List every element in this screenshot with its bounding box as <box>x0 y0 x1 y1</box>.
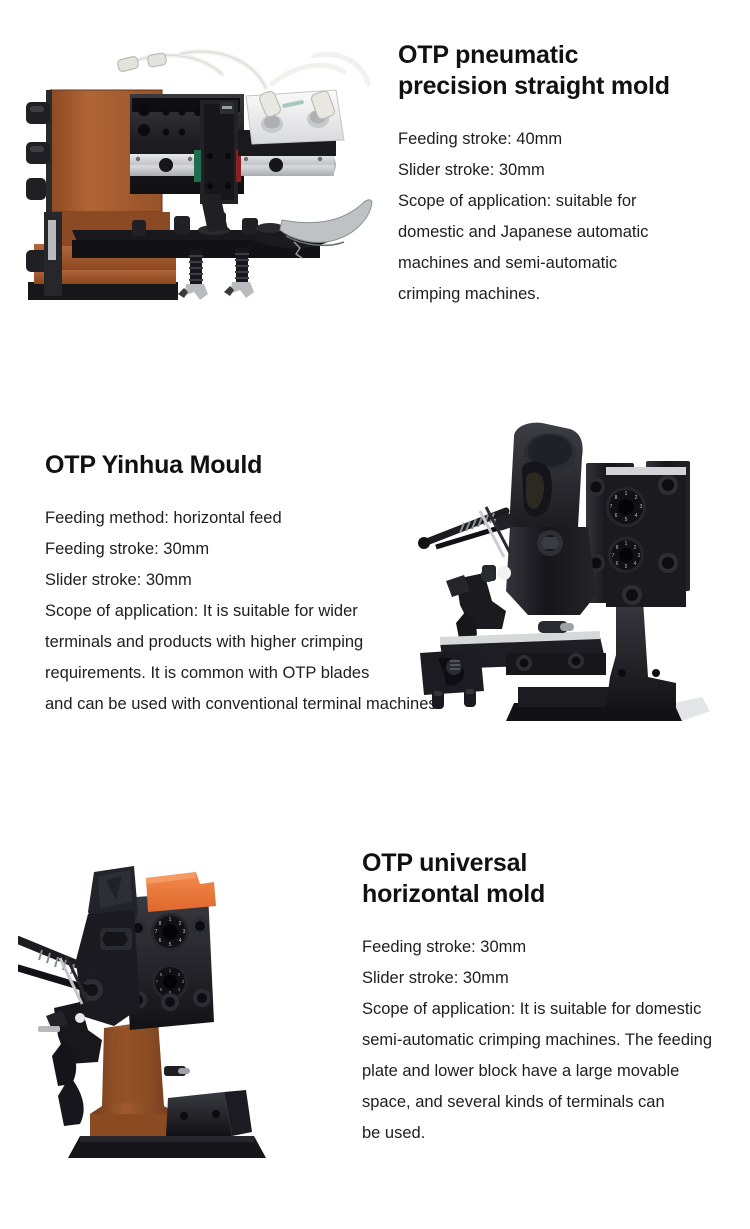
svg-text:7: 7 <box>155 929 158 935</box>
spec-line: Scope of application: It is suitable for… <box>362 994 742 1025</box>
product-section-pneumatic: OTP pneumatic precision straight mold Fe… <box>0 0 750 400</box>
svg-text:5: 5 <box>169 942 172 948</box>
svg-text:3: 3 <box>640 504 643 510</box>
product-section-yinhua: OTP Yinhua Mould Feeding method: horizon… <box>0 400 750 820</box>
title-line-2: horizontal mold <box>362 879 742 910</box>
page-title-universal: OTP universal horizontal mold <box>362 848 742 910</box>
svg-text:3: 3 <box>183 929 186 935</box>
otp-yinhua-mould-photo: 123 456 78 123 456 78 <box>410 415 730 740</box>
svg-text:7: 7 <box>610 504 613 510</box>
spec-line: Feeding stroke: 40mm <box>398 124 738 155</box>
svg-text:4: 4 <box>179 938 182 944</box>
svg-text:8: 8 <box>159 921 162 927</box>
svg-text:7: 7 <box>612 553 615 559</box>
spec-line: Slider stroke: 30mm <box>362 963 742 994</box>
spec-line: Scope of application: suitable for <box>398 186 738 217</box>
spec-line: Feeding stroke: 30mm <box>362 932 742 963</box>
otp-pneumatic-precision-straight-mold-photo <box>14 44 380 312</box>
svg-text:2: 2 <box>179 921 182 927</box>
svg-text:1: 1 <box>169 917 172 923</box>
svg-text:6: 6 <box>615 513 618 519</box>
svg-text:4: 4 <box>634 561 637 567</box>
spec-line: space, and several kinds of terminals ca… <box>362 1087 742 1118</box>
svg-text:5: 5 <box>625 517 628 523</box>
svg-text:6: 6 <box>159 938 162 944</box>
svg-text:6: 6 <box>616 561 619 567</box>
svg-text:3: 3 <box>638 553 641 559</box>
spec-line: machines and semi-automatic <box>398 248 738 279</box>
title-line-1: OTP universal <box>362 848 742 879</box>
svg-text:8: 8 <box>615 495 618 501</box>
spec-line: crimping machines. <box>398 279 738 310</box>
spec-line: domestic and Japanese automatic <box>398 217 738 248</box>
spec-line: be used. <box>362 1118 742 1149</box>
svg-text:2: 2 <box>634 545 637 551</box>
spec-line: plate and lower block have a large movab… <box>362 1056 742 1087</box>
product-text-pneumatic: OTP pneumatic precision straight mold Fe… <box>398 40 738 310</box>
svg-text:1: 1 <box>625 491 628 497</box>
title-line-1: OTP pneumatic <box>398 40 738 71</box>
spec-line: semi-automatic crimping machines. The fe… <box>362 1025 742 1056</box>
product-section-universal: 123 456 78 123 456 78 <box>0 820 750 1229</box>
page-title-pneumatic: OTP pneumatic precision straight mold <box>398 40 738 102</box>
svg-text:1: 1 <box>625 541 628 547</box>
otp-universal-horizontal-mold-photo: 123 456 78 123 456 78 <box>18 840 328 1180</box>
svg-text:5: 5 <box>625 564 628 570</box>
svg-text:8: 8 <box>616 545 619 551</box>
title-line-2: precision straight mold <box>398 71 738 102</box>
svg-text:4: 4 <box>635 513 638 519</box>
svg-text:2: 2 <box>635 495 638 501</box>
product-text-universal: OTP universal horizontal mold Feeding st… <box>362 848 742 1149</box>
spec-line: Slider stroke: 30mm <box>398 155 738 186</box>
